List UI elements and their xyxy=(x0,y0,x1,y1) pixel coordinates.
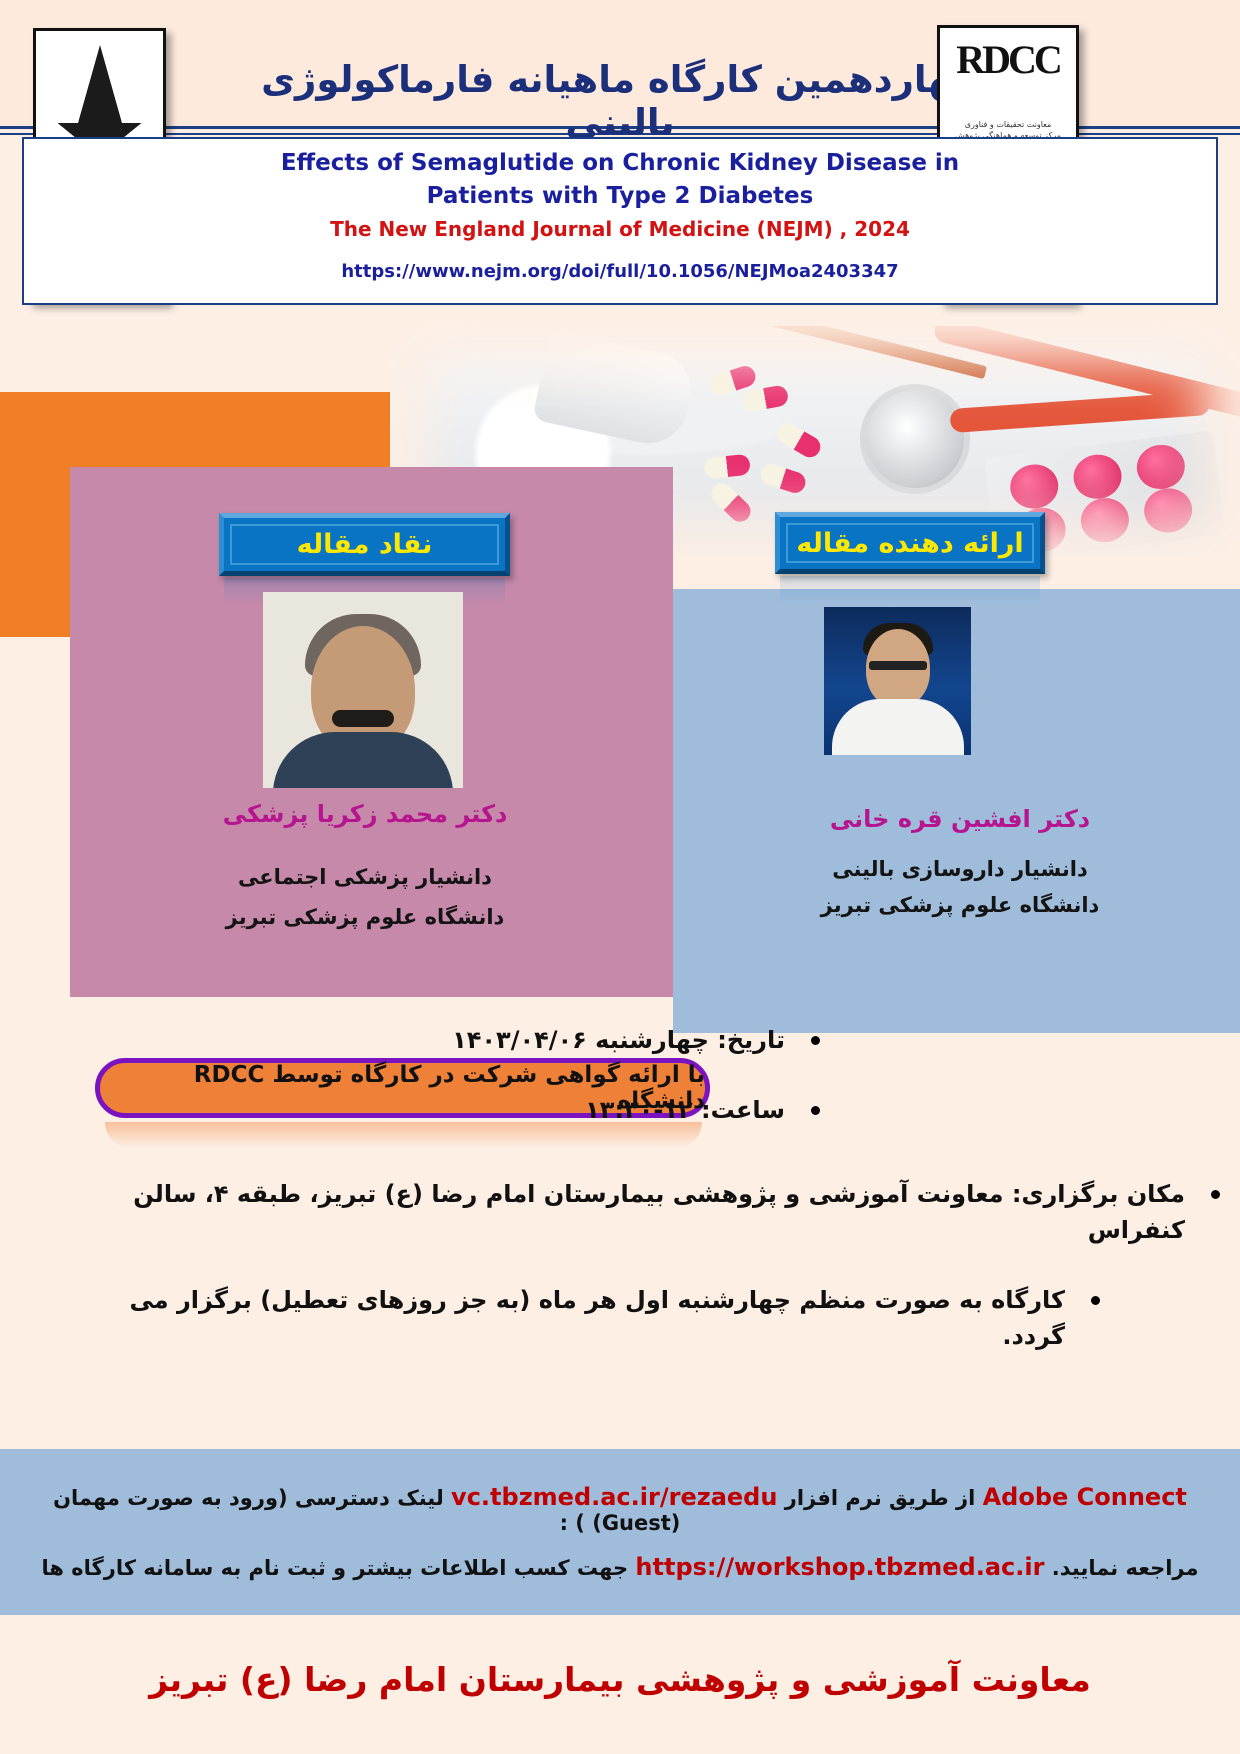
footer-organization: معاونت آموزشی و پژوهشی بیمارستان امام رض… xyxy=(0,1660,1240,1699)
register-url[interactable]: https://workshop.tbzmed.ac.ir xyxy=(635,1553,1044,1581)
pencil-icon xyxy=(693,326,987,379)
access-suffix: از طریق نرم افزار xyxy=(785,1486,976,1510)
capsule-icon xyxy=(707,479,755,526)
journal-citation: The New England Journal of Medicine (NEJ… xyxy=(224,217,1016,241)
register-suffix: مراجعه نمایید. xyxy=(1052,1556,1199,1580)
critic-role-banner: نقاد مقاله xyxy=(219,513,510,576)
critic-name: دکتر محمد زکریا پزشکی xyxy=(180,800,550,828)
article-title-panel: Effects of Semaglutide on Chronic Kidney… xyxy=(22,137,1218,305)
shirt-shape xyxy=(832,699,964,755)
presenter-role-banner: ارائه دهنده مقاله xyxy=(775,512,1045,574)
critic-affiliation-1: دانشیار پزشکی اجتماعی xyxy=(180,865,550,889)
logo-rdcc: RDCC معاونت تحقیقات و فناوری مرکز توسعه … xyxy=(937,25,1079,150)
pen-icon xyxy=(78,45,122,123)
presenter-banner-inner: ارائه دهنده مقاله xyxy=(786,523,1034,563)
capsule-icon xyxy=(741,384,790,413)
mustache-shape xyxy=(332,710,394,727)
presenter-affiliation-2: دانشگاه علوم پزشکی تبریز xyxy=(760,893,1160,917)
register-prefix: جهت کسب اطلاعات بیشتر و ثبت نام به سامان… xyxy=(42,1556,629,1580)
tablet-icon xyxy=(1071,452,1124,502)
glasses-shape xyxy=(869,661,927,670)
event-details-list: تاریخ: چهارشنبه ۱۴۰۳/۰۴/۰۶ ساعت: ۱۲-۱۳:۳… xyxy=(60,1022,1220,1388)
rdcc-caption-line1: معاونت تحقیقات و فناوری xyxy=(944,119,1072,130)
access-link-line: Adobe Connect از طریق نرم افزار vc.tbzme… xyxy=(18,1483,1222,1535)
adobe-connect-label: Adobe Connect xyxy=(983,1483,1187,1511)
detail-frequency: کارگاه به صورت منظم چهارشنبه اول هر ماه … xyxy=(60,1282,1065,1354)
critic-banner-inner: نقاد مقاله xyxy=(230,524,499,565)
tablet-icon xyxy=(1008,462,1061,512)
presenter-photo xyxy=(824,607,971,755)
detail-date-row: تاریخ: چهارشنبه ۱۴۰۳/۰۴/۰۶ xyxy=(60,1022,820,1058)
pill-bottle-icon xyxy=(532,329,698,450)
bullet-icon xyxy=(811,1036,820,1045)
capsule-icon xyxy=(774,420,824,461)
capsule-icon xyxy=(758,461,808,495)
presenter-name: دکتر افشین قره خانی xyxy=(760,805,1160,833)
links-band: Adobe Connect از طریق نرم افزار vc.tbzme… xyxy=(0,1449,1240,1615)
detail-time: ساعت: ۱۲-۱۳:۳۰ xyxy=(585,1092,785,1128)
stethoscope-tube-icon xyxy=(949,391,1210,433)
critic-photo xyxy=(263,592,463,788)
rdcc-wordmark: RDCC xyxy=(940,36,1076,83)
tablet-icon xyxy=(1134,442,1187,492)
stethoscope-head-icon xyxy=(860,384,970,494)
detail-frequency-row: کارگاه به صورت منظم چهارشنبه اول هر ماه … xyxy=(60,1282,1100,1354)
presenter-banner-label: ارائه دهنده مقاله xyxy=(796,528,1023,559)
stethoscope-tube-icon xyxy=(932,326,1240,420)
bullet-icon xyxy=(1211,1190,1220,1199)
poster-root: چهاردهمین کارگاه ماهیانه فارماکولوژی بال… xyxy=(0,0,1240,1754)
article-title-en: Effects of Semaglutide on Chronic Kidney… xyxy=(244,147,996,212)
critic-banner-label: نقاد مقاله xyxy=(297,529,433,560)
workshop-title: چهاردهمین کارگاه ماهیانه فارماکولوژی بال… xyxy=(250,58,990,144)
critic-affiliation-2: دانشگاه علوم پزشکی تبریز xyxy=(180,905,550,929)
presenter-affiliation-1: دانشیار داروسازی بالینی xyxy=(760,857,1160,881)
presenter-banner-reflection xyxy=(780,576,1040,604)
detail-place: مکان برگزاری: معاونت آموزشی و پژوهشی بیم… xyxy=(60,1176,1185,1248)
capsule-icon xyxy=(703,454,751,480)
detail-place-row: مکان برگزاری: معاونت آموزشی و پژوهشی بیم… xyxy=(60,1176,1220,1248)
article-title-line2: Patients with Type 2 Diabetes xyxy=(244,180,996,213)
tablet-icon xyxy=(1078,495,1131,545)
register-link-line: مراجعه نمایید. https://workshop.tbzmed.a… xyxy=(18,1553,1222,1581)
bullet-icon xyxy=(1091,1296,1100,1305)
capsule-icon xyxy=(708,363,758,397)
article-title-line1: Effects of Semaglutide on Chronic Kidney… xyxy=(244,147,996,180)
shoulders-shape xyxy=(273,732,453,788)
detail-date: تاریخ: چهارشنبه ۱۴۰۳/۰۴/۰۶ xyxy=(452,1022,785,1058)
doi-link[interactable]: https://www.nejm.org/doi/full/10.1056/NE… xyxy=(204,261,1036,282)
detail-time-row: ساعت: ۱۲-۱۳:۳۰ xyxy=(60,1092,820,1128)
bullet-icon xyxy=(811,1106,820,1115)
tablet-icon xyxy=(1142,486,1195,536)
access-url[interactable]: vc.tbzmed.ac.ir/rezaedu xyxy=(451,1483,777,1511)
